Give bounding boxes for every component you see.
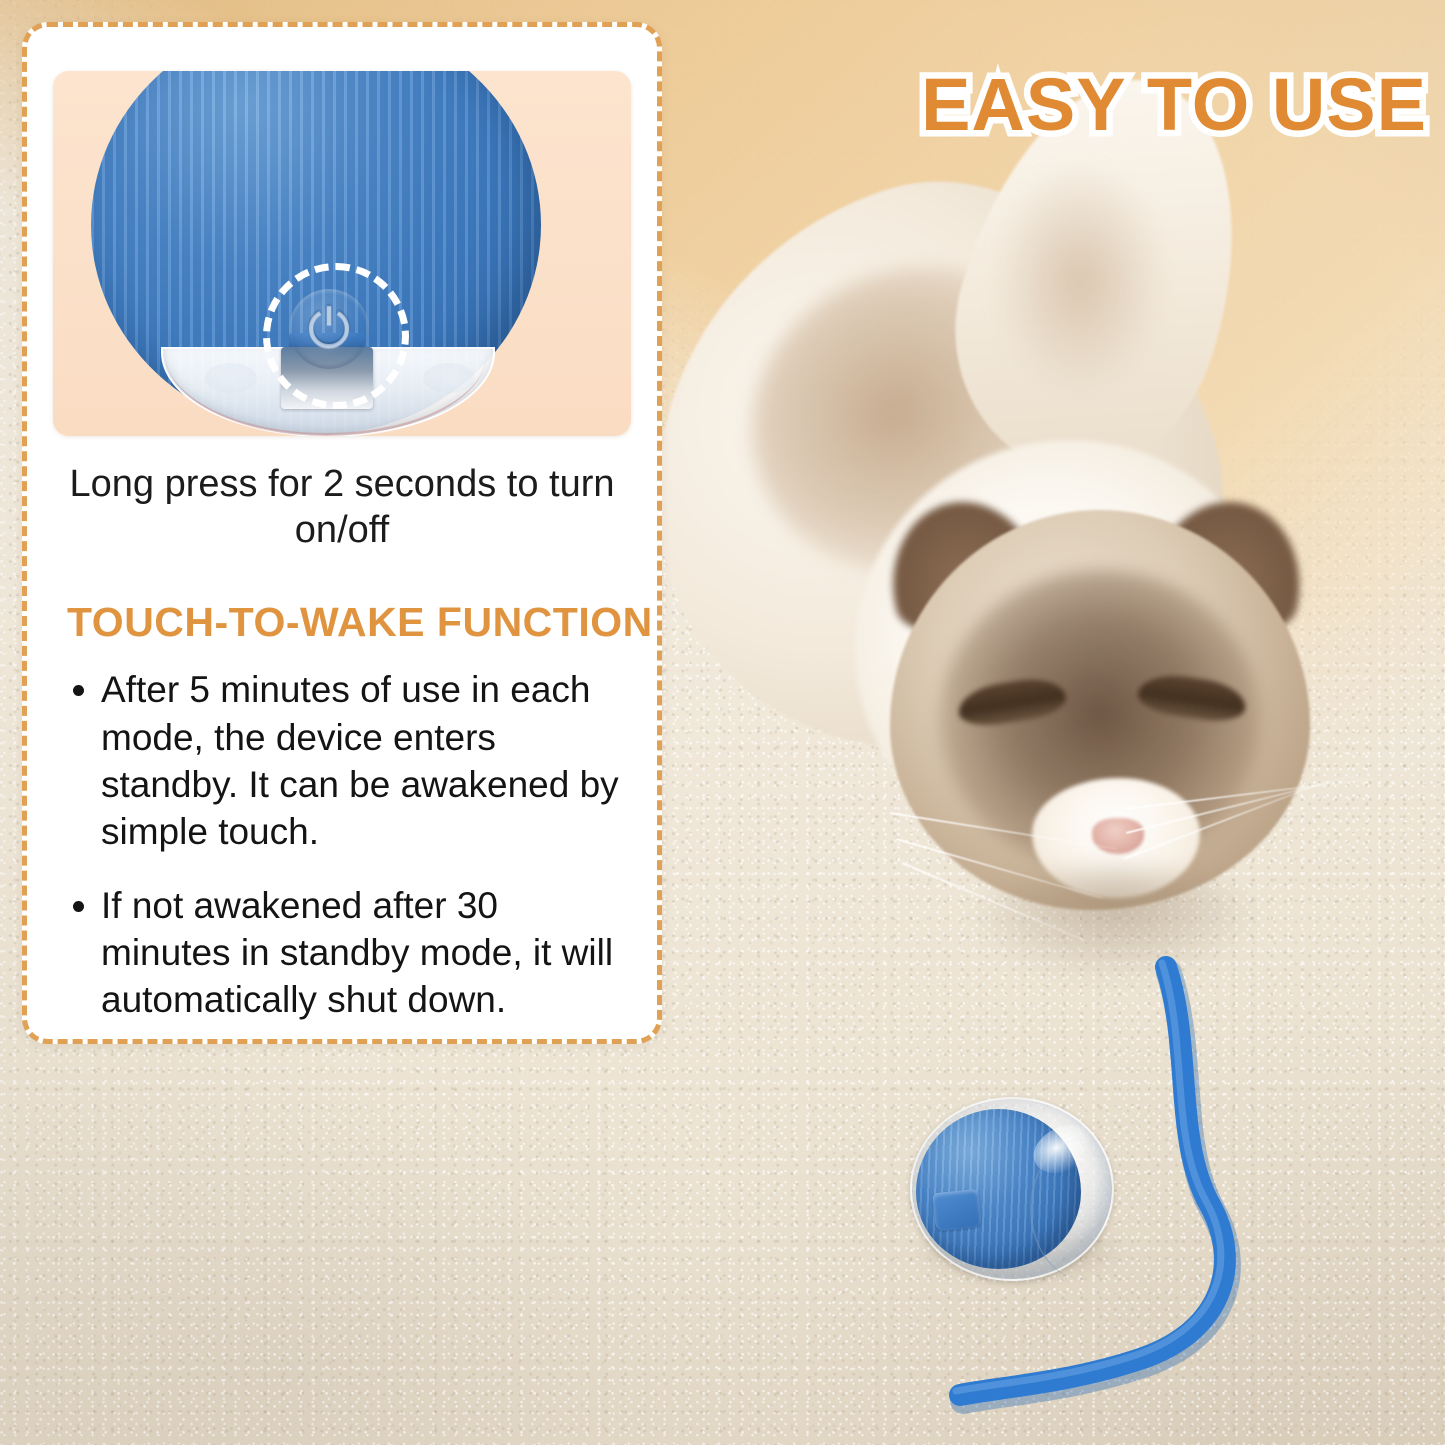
list-item: If not awakened after 30 minutes in stan… — [67, 882, 627, 1024]
info-panel: ⏻ Long press for 2 seconds to turn on/of… — [22, 22, 662, 1044]
section-heading: TOUCH-TO-WAKE FUNCTION — [67, 599, 631, 646]
inset-led-right — [423, 363, 475, 393]
cat-leg-shading — [995, 165, 1165, 395]
ball-transparent-shell — [910, 1097, 1114, 1281]
highlight-dashed-circle — [263, 263, 409, 409]
product-ball-photo — [900, 1075, 1160, 1290]
cat-nose — [1092, 818, 1144, 854]
power-button-closeup-image: ⏻ — [53, 71, 631, 436]
inset-led-left — [205, 363, 257, 393]
cat-photo — [640, 70, 1445, 1050]
ball-silicone-tab — [932, 1189, 982, 1232]
infographic-poster: EASY TO USE ⏻ Long press for 2 seconds t… — [0, 0, 1445, 1445]
page-title: EASY TO USE — [921, 62, 1427, 147]
feature-bullet-list: After 5 minutes of use in each mode, the… — [53, 666, 631, 1024]
inset-caption: Long press for 2 seconds to turn on/off — [61, 462, 623, 553]
list-item: After 5 minutes of use in each mode, the… — [67, 666, 627, 855]
